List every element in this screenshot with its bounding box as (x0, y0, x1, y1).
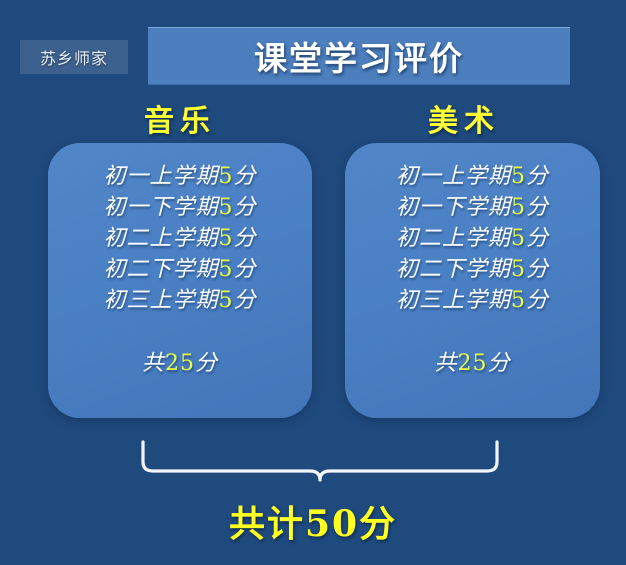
score-row-points: 5 (219, 164, 234, 189)
grand-total-label: 共计50分 (0, 495, 626, 547)
page-title: 课堂学习评价 (254, 32, 464, 80)
score-card-music: 初一上学期5分初一下学期5分初二上学期5分初二下学期5分初三上学期5分 共25分 (48, 143, 312, 418)
score-row-list-art: 初一上学期5分初一下学期5分初二上学期5分初二下学期5分初三上学期5分 (345, 161, 600, 316)
score-row-term: 初二上学期 (103, 226, 218, 251)
score-row-term: 初一下学期 (103, 195, 218, 220)
score-row-unit: 分 (234, 226, 257, 251)
score-row-term: 初一下学期 (396, 195, 511, 220)
score-row: 初二下学期5分 (345, 254, 600, 285)
score-row-term: 初三上学期 (103, 288, 218, 313)
score-row-unit: 分 (234, 195, 257, 220)
watermark-label: 苏乡师家 (40, 45, 108, 69)
score-row: 初一下学期5分 (48, 192, 312, 223)
score-row-points: 5 (219, 288, 234, 313)
subtotal-value: 25 (458, 351, 488, 376)
score-card-art: 初一上学期5分初一下学期5分初二上学期5分初二下学期5分初三上学期5分 共25分 (345, 143, 600, 418)
score-row-points: 5 (511, 288, 526, 313)
score-row-term: 初一上学期 (103, 164, 218, 189)
watermark-badge: 苏乡师家 (20, 40, 128, 74)
score-row: 初一下学期5分 (345, 192, 600, 223)
horizontal-curly-brace-icon (140, 438, 500, 488)
score-row: 初一上学期5分 (345, 161, 600, 192)
subtotal-prefix: 共 (434, 351, 457, 376)
subtotal-prefix: 共 (142, 351, 165, 376)
score-row-unit: 分 (526, 164, 549, 189)
score-row-points: 5 (511, 257, 526, 282)
score-row-points: 5 (219, 195, 234, 220)
score-row: 初二上学期5分 (48, 223, 312, 254)
slide-canvas: 苏乡师家 课堂学习评价 音乐 美术 初一上学期5分初一下学期5分初二上学期5分初… (0, 0, 626, 565)
score-row-unit: 分 (526, 226, 549, 251)
score-row-unit: 分 (234, 164, 257, 189)
subtotal-art: 共25分 (345, 345, 600, 377)
subtotal-unit: 分 (488, 351, 511, 376)
column-header-art: 美术 (364, 96, 564, 140)
title-banner: 课堂学习评价 (148, 27, 570, 85)
score-row-term: 初三上学期 (396, 288, 511, 313)
score-row: 初三上学期5分 (48, 285, 312, 316)
score-row-points: 5 (219, 257, 234, 282)
score-row-term: 初一上学期 (396, 164, 511, 189)
subtotal-value: 25 (165, 351, 195, 376)
score-row-unit: 分 (526, 257, 549, 282)
score-row-term: 初二下学期 (396, 257, 511, 282)
score-row-unit: 分 (234, 257, 257, 282)
score-row: 初三上学期5分 (345, 285, 600, 316)
score-row-term: 初二下学期 (103, 257, 218, 282)
score-row-points: 5 (511, 164, 526, 189)
score-row-points: 5 (219, 226, 234, 251)
score-row-list-music: 初一上学期5分初一下学期5分初二上学期5分初二下学期5分初三上学期5分 (48, 161, 312, 316)
score-row-unit: 分 (526, 288, 549, 313)
subtotal-unit: 分 (195, 351, 218, 376)
score-row: 初二下学期5分 (48, 254, 312, 285)
score-row-term: 初二上学期 (396, 226, 511, 251)
score-row-unit: 分 (234, 288, 257, 313)
column-header-music: 音乐 (80, 96, 280, 140)
score-row: 初一上学期5分 (48, 161, 312, 192)
subtotal-music: 共25分 (48, 345, 312, 377)
score-row-points: 5 (511, 195, 526, 220)
score-row-points: 5 (511, 226, 526, 251)
score-row: 初二上学期5分 (345, 223, 600, 254)
score-row-unit: 分 (526, 195, 549, 220)
